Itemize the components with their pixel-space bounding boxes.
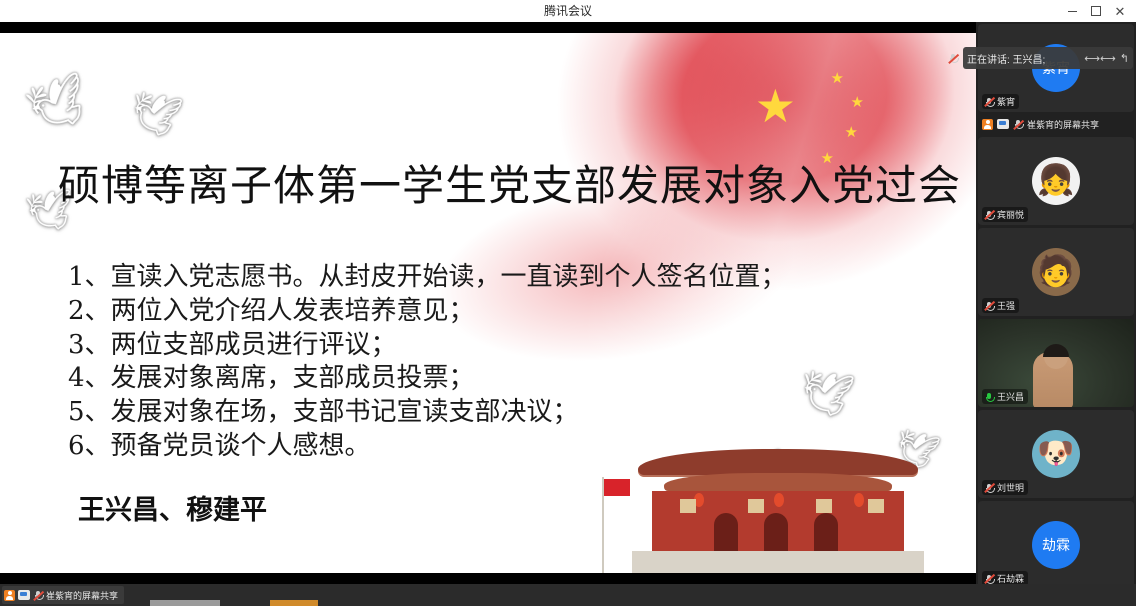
minimize-icon xyxy=(1068,11,1077,12)
flag-star-small-icon: ★ xyxy=(831,71,844,86)
mic-muted-icon xyxy=(984,210,994,220)
gate-window xyxy=(748,499,764,513)
avatar-photo-icon: 🐶 xyxy=(1037,439,1074,469)
shared-screen-stage[interactable]: ★ ★ ★ ★ ★ 🕊 🕊 🕊 🕊 🕊 🕊 xyxy=(0,22,976,584)
gate-window xyxy=(816,499,832,513)
gate-window xyxy=(680,499,696,513)
participant-namebar: 宾丽悦 xyxy=(982,207,1028,222)
avatar-photo-icon: 👧 xyxy=(1037,166,1074,196)
speaking-banner[interactable]: 正在讲话: 王兴昌; ⟷⟷ ↰ xyxy=(963,47,1133,69)
mic-muted-icon xyxy=(984,301,994,311)
participant-name: 刘世明 xyxy=(997,481,1024,494)
window-controls: ✕ xyxy=(1060,0,1132,22)
screen-share-icon xyxy=(18,590,30,600)
gate-base xyxy=(632,551,924,573)
close-button[interactable]: ✕ xyxy=(1108,1,1132,21)
taskbar-preview-strip xyxy=(150,600,550,606)
gate-roof-lower xyxy=(664,473,892,491)
collapse-arrow-icon[interactable]: ↰ xyxy=(1120,52,1129,65)
agenda-item: 1、宣读入党志愿书。从封皮开始读，一直读到个人签名位置； xyxy=(68,261,928,295)
window-title: 腾讯会议 xyxy=(0,0,1136,22)
small-flag xyxy=(604,479,630,496)
participant-namebar: 王兴昌 xyxy=(982,389,1028,404)
avatar: 🧑 xyxy=(1032,248,1080,296)
slide-title: 硕博等离子体第一学生党支部发展对象入党过会 xyxy=(58,161,938,211)
screen-share-indicator[interactable]: 崔紫宵的屏幕共享 xyxy=(978,115,1136,133)
participant-namebar: 刘世明 xyxy=(982,480,1028,495)
screen-share-label: 崔紫宵的屏幕共享 xyxy=(1027,118,1099,131)
lantern-icon xyxy=(854,493,864,507)
gate-window xyxy=(868,499,884,513)
taskbar-preview-block xyxy=(270,600,318,606)
layout-switch-icon[interactable]: ⟷⟷ xyxy=(1084,52,1116,65)
agenda-item: 3、两位支部成员进行评议； xyxy=(68,329,928,363)
mic-muted-icon xyxy=(984,483,994,493)
person-icon xyxy=(4,590,15,601)
participant-name: 王强 xyxy=(997,299,1015,312)
mic-muted-icon xyxy=(984,574,994,584)
agenda-item: 4、发展对象离席，支部成员投票； xyxy=(68,362,928,396)
mic-muted-icon xyxy=(1013,119,1023,129)
mic-muted-icon xyxy=(33,590,43,600)
maximize-restore-button[interactable] xyxy=(1084,1,1108,21)
participant-tile-active-speaker[interactable]: 王兴昌 xyxy=(978,319,1134,407)
agenda-item: 2、两位入党介绍人发表培养意见； xyxy=(68,295,928,329)
minimize-button[interactable] xyxy=(1060,1,1084,21)
mic-active-icon xyxy=(984,392,994,402)
taskbar-item-screen-share[interactable]: 崔紫宵的屏幕共享 xyxy=(2,586,124,604)
presentation-slide: ★ ★ ★ ★ ★ 🕊 🕊 🕊 🕊 🕊 🕊 xyxy=(0,33,976,573)
participant-name: 宾丽悦 xyxy=(997,208,1024,221)
avatar: 劫霖 xyxy=(1032,521,1080,569)
screen-share-icon xyxy=(997,119,1009,129)
taskbar-preview-block xyxy=(150,600,220,606)
slide-signature: 王兴昌、穆建平 xyxy=(78,488,267,527)
speaking-mic-icon xyxy=(948,52,960,64)
restore-icon xyxy=(1091,6,1101,16)
speaking-banner-text: 正在讲话: 王兴昌; xyxy=(967,51,1080,66)
participant-tile[interactable]: 劫霖 石劫霖 xyxy=(978,501,1134,589)
agenda-item: 5、发展对象在场，支部书记宣读支部决议； xyxy=(68,396,928,430)
gate-door xyxy=(714,513,738,555)
participant-tile[interactable]: 👧 宾丽悦 xyxy=(978,137,1134,225)
participant-namebar: 王强 xyxy=(982,298,1019,313)
flag-star-small-icon: ★ xyxy=(851,95,864,110)
gate-door xyxy=(814,513,838,555)
dove-icon: 🕊 xyxy=(126,90,184,140)
dove-icon: 🕊 xyxy=(22,73,95,137)
participant-name: 王兴昌 xyxy=(997,390,1024,403)
agenda-item: 6、预备党员谈个人感想。 xyxy=(68,430,928,464)
participant-name: 紫宵 xyxy=(997,95,1015,108)
lantern-icon xyxy=(774,493,784,507)
close-icon: ✕ xyxy=(1115,5,1126,18)
participant-tile[interactable]: 🐶 刘世明 xyxy=(978,410,1134,498)
participant-tile[interactable]: 🧑 王强 xyxy=(978,228,1134,316)
video-person-hair xyxy=(1043,344,1069,357)
gate-door xyxy=(764,513,788,555)
avatar-photo-icon: 🧑 xyxy=(1037,257,1074,287)
tencent-meeting-window: 腾讯会议 ✕ ★ ★ ★ ★ ★ 🕊 🕊 🕊 🕊 🕊 xyxy=(0,0,1136,606)
person-icon xyxy=(982,119,993,130)
flag-star-large-icon: ★ xyxy=(755,83,796,129)
participants-rail[interactable]: 紫宵 紫宵 崔紫宵的屏幕共享 👧 宾丽悦 🧑 xyxy=(976,22,1136,584)
flag-star-small-icon: ★ xyxy=(845,125,858,140)
slide-agenda-list: 1、宣读入党志愿书。从封皮开始读，一直读到个人签名位置； 2、两位入党介绍人发表… xyxy=(68,261,928,464)
avatar: 👧 xyxy=(1032,157,1080,205)
avatar: 🐶 xyxy=(1032,430,1080,478)
taskbar-item-label: 崔紫宵的屏幕共享 xyxy=(46,589,118,602)
mic-muted-icon xyxy=(984,97,994,107)
title-bar: 腾讯会议 ✕ xyxy=(0,0,1136,23)
participant-namebar: 紫宵 xyxy=(982,94,1019,109)
